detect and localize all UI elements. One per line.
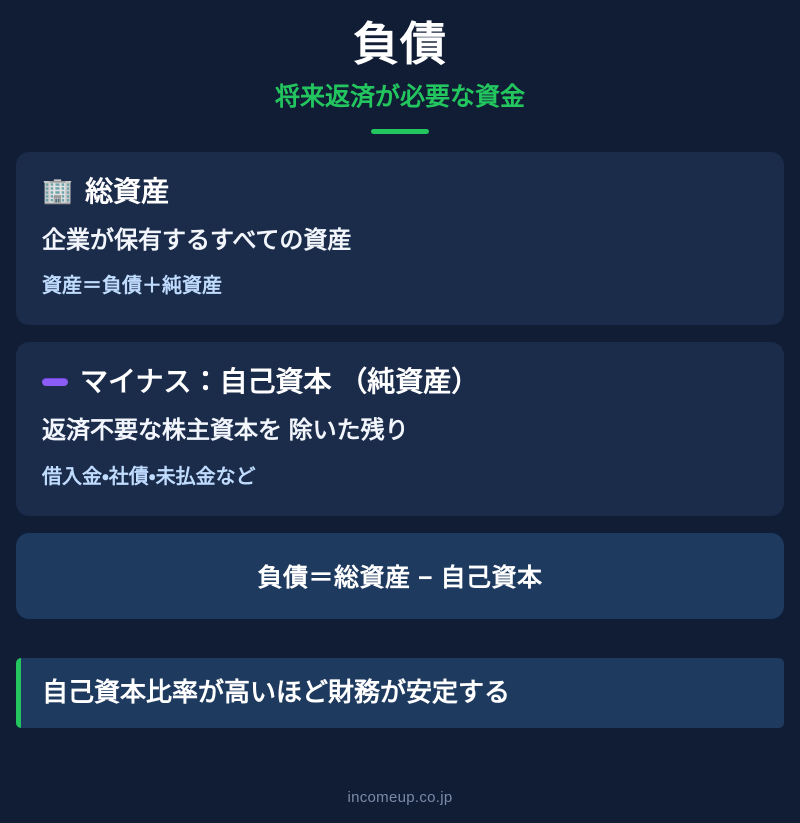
- card-header: マイナス：自己資本 （純資産）: [42, 366, 758, 398]
- tip-text: 自己資本比率が高いほど財務が安定する: [42, 677, 510, 708]
- page-title: 負債: [0, 18, 800, 71]
- footer-site-label: incomeup.co.jp: [347, 789, 452, 806]
- heavy-minus-sign-icon: [42, 378, 68, 386]
- card-minus-equity: マイナス：自己資本 （純資産） 返済不要な株主資本を 除いた残り 借入金・社債・…: [16, 342, 784, 515]
- card-title: 総資産: [85, 176, 169, 208]
- footer: incomeup.co.jp: [0, 789, 800, 823]
- title-divider: [371, 129, 429, 134]
- office-building-icon: 🏢: [42, 179, 73, 204]
- card-description: 企業が保有するすべての資産: [42, 225, 758, 256]
- card-note: 借入金・社債・未払金など: [42, 464, 758, 490]
- formula-text: 負債＝総資産 − 自己資本: [258, 558, 543, 594]
- card-total-assets: 🏢 総資産 企業が保有するすべての資産 資産＝負債＋純資産: [16, 152, 784, 325]
- formula-box: 負債＝総資産 − 自己資本: [16, 533, 784, 619]
- card-description: 返済不要な株主資本を 除いた残り: [42, 415, 758, 446]
- infographic-page: 負債 将来返済が必要な資金 🏢 総資産 企業が保有するすべての資産 資産＝負債＋…: [0, 0, 800, 823]
- card-title: マイナス：自己資本 （純資産）: [80, 366, 479, 398]
- tip-box: 自己資本比率が高いほど財務が安定する: [16, 658, 784, 728]
- card-header: 🏢 総資産: [42, 176, 758, 208]
- header: 負債 将来返済が必要な資金: [0, 0, 800, 134]
- card-note: 資産＝負債＋純資産: [42, 273, 758, 299]
- page-subtitle: 将来返済が必要な資金: [0, 82, 800, 112]
- card-list: 🏢 総資産 企業が保有するすべての資産 資産＝負債＋純資産 マイナス：自己資本 …: [0, 152, 800, 533]
